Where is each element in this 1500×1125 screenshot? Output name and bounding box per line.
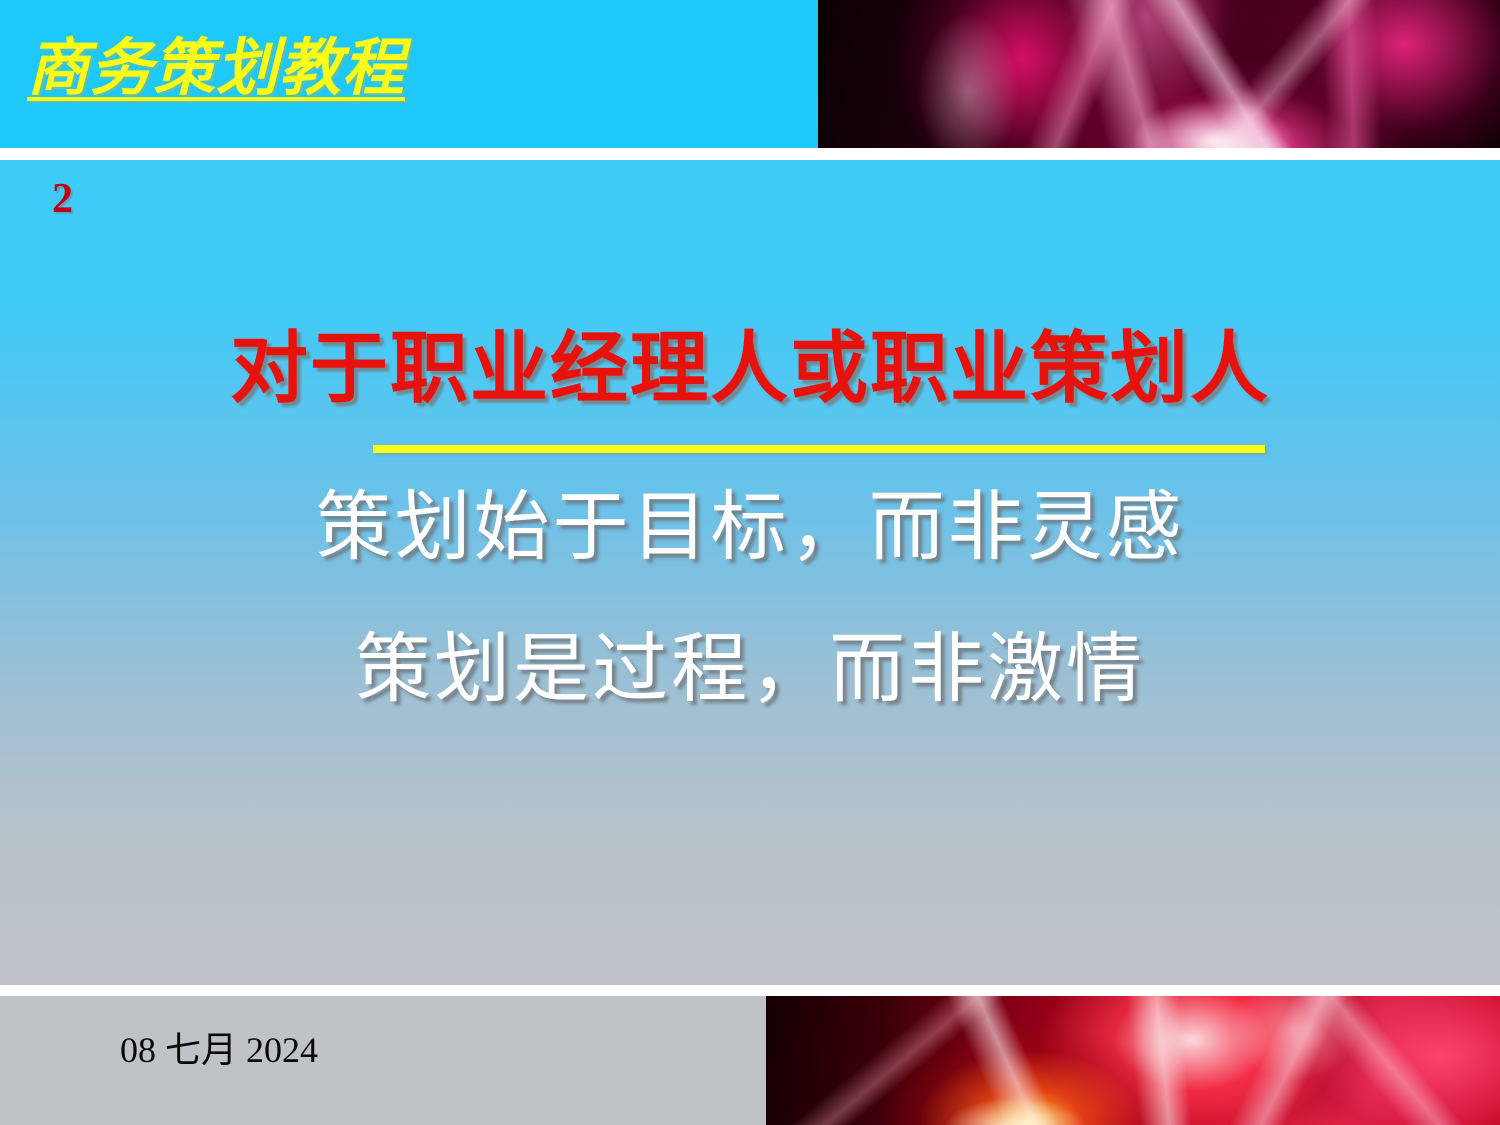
- content-statement-1: 策划始于目标，而非灵感: [0, 490, 1500, 566]
- abstract-red-fractal-image: [766, 996, 1500, 1125]
- heading-underline-rule: [373, 445, 1265, 453]
- pink-fractal-highlight-layer: [818, 0, 1500, 148]
- red-fractal-highlight-layer: [766, 996, 1500, 1125]
- presentation-slide: 商务策划教程 2 对于职业经理人或职业策划人 策划始于目标，而非灵感 策划是过程…: [0, 0, 1500, 1125]
- slide-number: 2: [52, 178, 73, 220]
- content-statement-2: 策划是过程，而非激情: [0, 632, 1500, 708]
- slide-body: 2 对于职业经理人或职业策划人 策划始于目标，而非灵感 策划是过程，而非激情: [0, 160, 1500, 985]
- content-heading: 对于职业经理人或职业策划人: [0, 330, 1500, 408]
- footer-date: 08 七月 2024: [120, 1032, 318, 1068]
- footer-separator: [0, 985, 1500, 996]
- header-separator: [0, 148, 1500, 160]
- slide-footer-band: 08 七月 2024: [0, 996, 1500, 1125]
- slide-header-band: 商务策划教程: [0, 0, 1500, 148]
- abstract-pink-fractal-image: [818, 0, 1500, 148]
- presentation-title: 商务策划教程: [27, 38, 405, 100]
